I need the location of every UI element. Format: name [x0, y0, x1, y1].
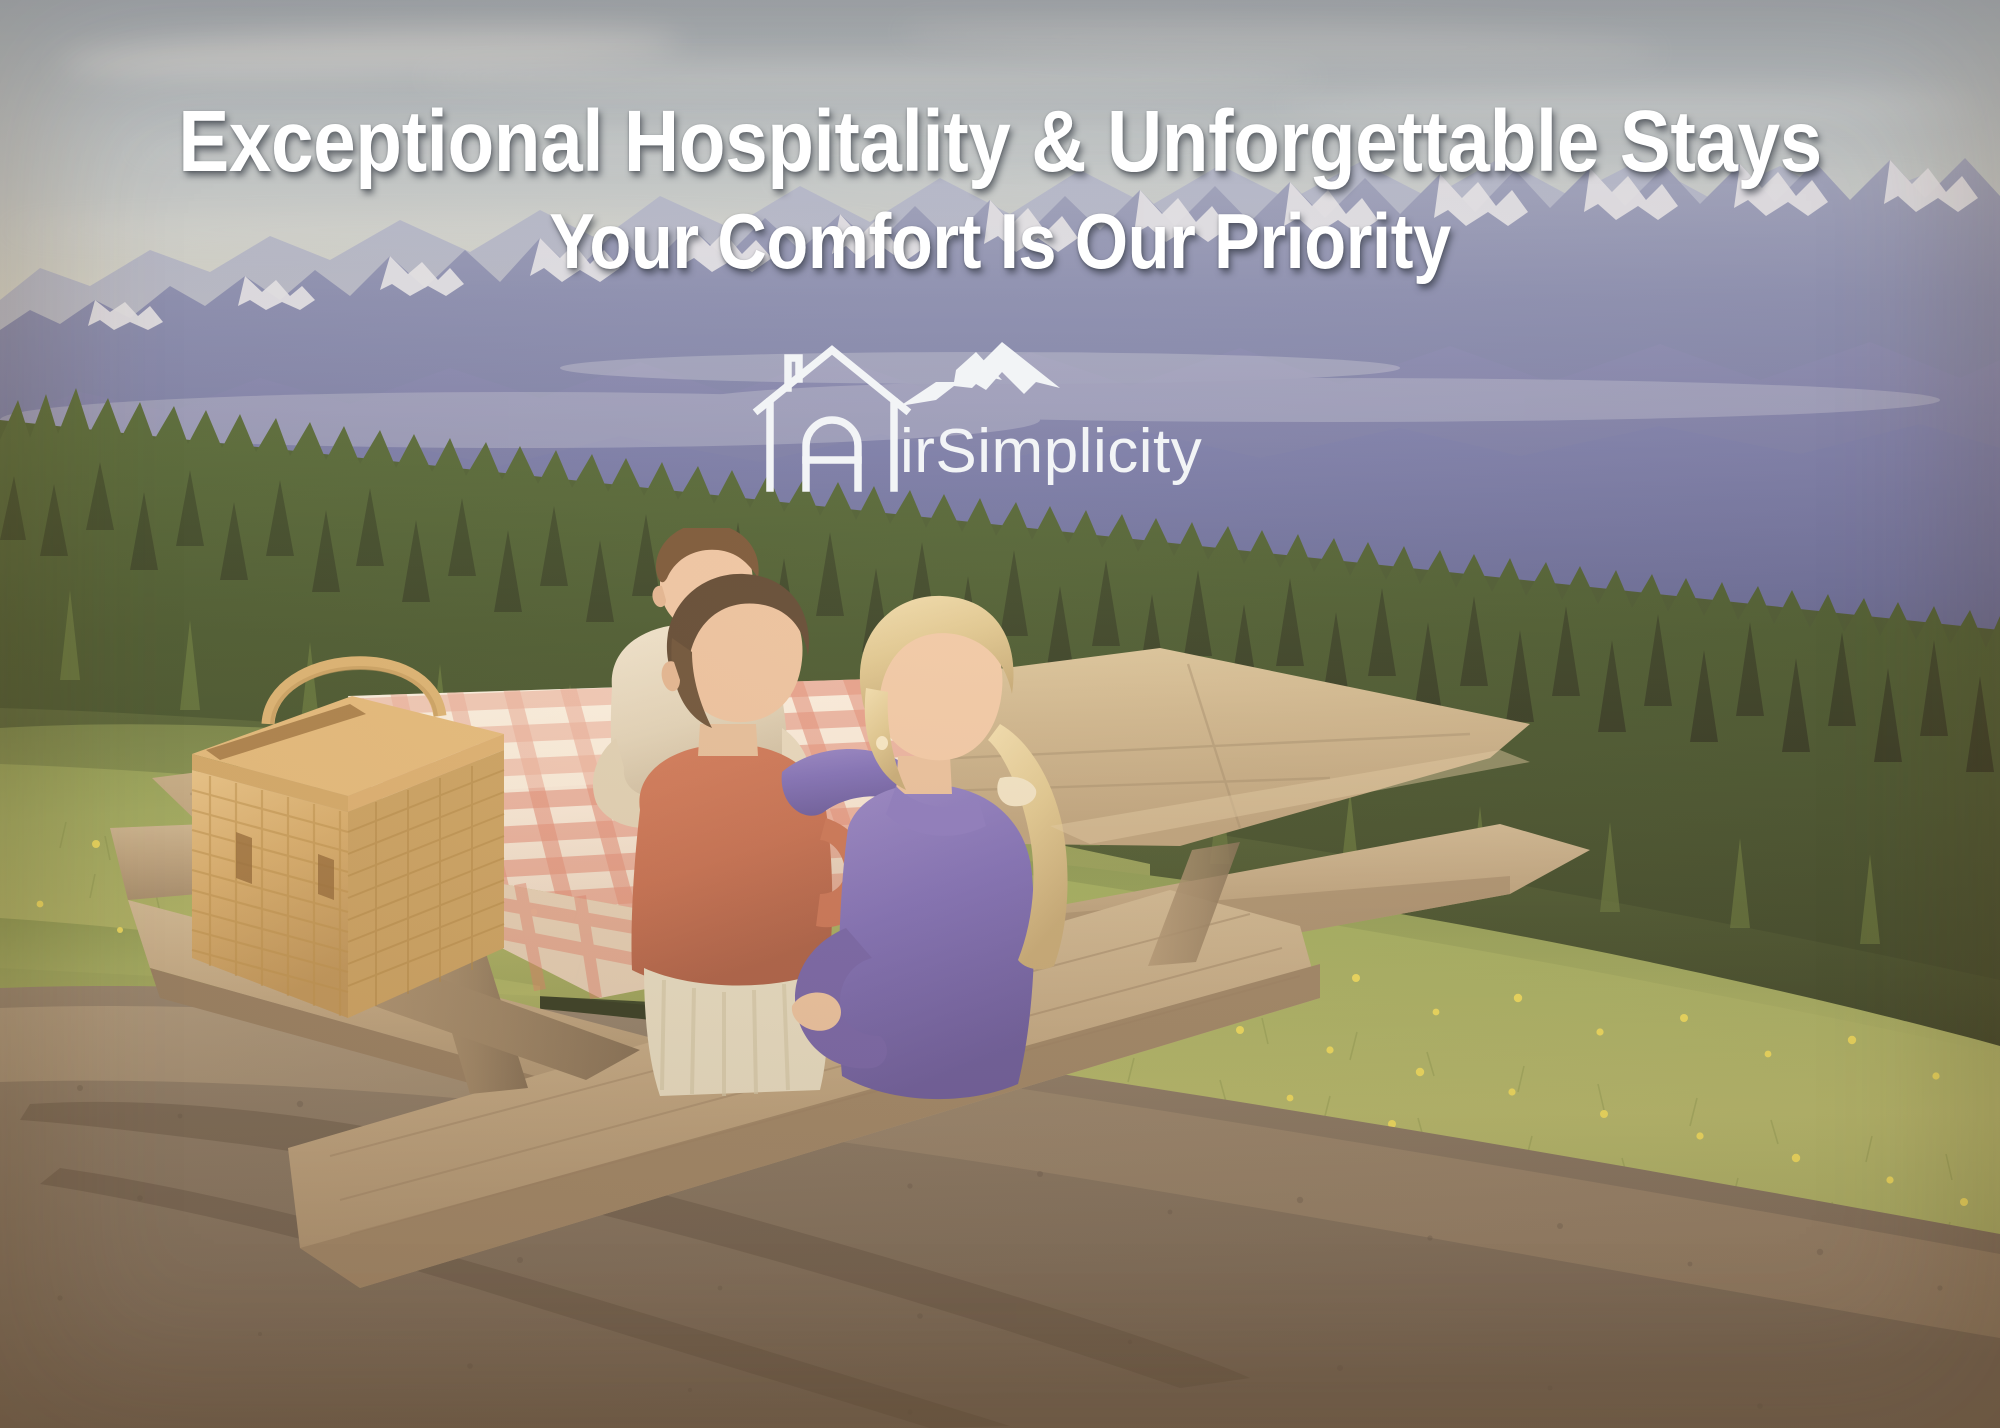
boy-neck [698, 724, 758, 756]
basket-strap [236, 832, 252, 884]
brand-logo: irSimplicity [0, 342, 2000, 492]
logo-wordmark-text: irSimplicity [900, 417, 1202, 486]
picnic-scene [0, 528, 2000, 1428]
hero-banner: Exceptional Hospitality & Unforgettable … [0, 0, 2000, 1428]
headline-line-1: Exceptional Hospitality & Unforgettable … [120, 95, 1880, 189]
mother-earring [876, 736, 888, 750]
headline-line-2: Your Comfort Is Our Priority [120, 199, 1880, 283]
headline-block: Exceptional Hospitality & Unforgettable … [0, 95, 2000, 283]
logo-wordmark: irSimplicity [740, 342, 1260, 492]
